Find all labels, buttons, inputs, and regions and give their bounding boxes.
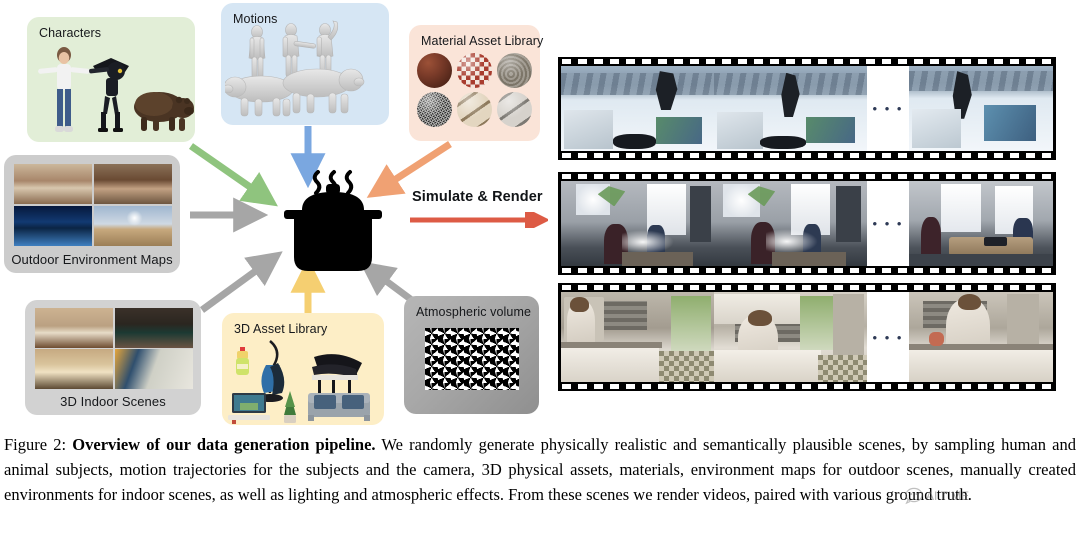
figure-caption: Figure 2: Overview of our data generatio… xyxy=(4,432,1076,507)
spray-bottle-asset xyxy=(236,347,249,375)
card-label-atmospheric-volume: Atmospheric volume xyxy=(416,305,531,319)
arrow-outdoor-to-pot xyxy=(188,205,274,225)
snow-frame-n[interactable] xyxy=(909,66,1053,151)
card-label-outdoor-env-maps: Outdoor Environment Maps xyxy=(4,252,180,267)
result-filmstrip-snow[interactable]: • • • xyxy=(558,57,1056,160)
ellipsis-gap: • • • xyxy=(867,66,909,151)
simulate-render-arrow xyxy=(408,212,548,228)
pano-indoor-hall xyxy=(14,164,92,204)
kitchen-frame-2[interactable] xyxy=(714,292,867,382)
scene-kitchen xyxy=(115,349,193,389)
pano-night-snow xyxy=(14,206,92,246)
source-card-indoor-scenes[interactable]: 3D Indoor Scenes xyxy=(25,300,201,415)
source-card-3d-asset-library[interactable]: 3D Asset Library xyxy=(222,313,384,425)
smoke-room-frame-n[interactable] xyxy=(909,181,1053,266)
result-filmstrip-smoke-room[interactable]: • • • xyxy=(558,172,1056,275)
scene-living-room xyxy=(35,349,113,389)
bear-character-icon xyxy=(129,82,195,134)
indoor-scene-grid xyxy=(35,308,193,388)
material-sphere-striped-sandstone xyxy=(457,92,492,127)
filmstrip-frames: • • • xyxy=(561,181,1053,266)
potted-plant-asset xyxy=(284,391,296,423)
ellipsis-label: • • • xyxy=(873,102,904,115)
material-sphere-gray-marble xyxy=(497,92,532,127)
source-card-characters[interactable]: Characters xyxy=(27,17,195,142)
vacuum-cleaner-asset xyxy=(257,341,284,402)
snow-frame-1[interactable] xyxy=(561,66,714,151)
source-card-atmospheric-volume[interactable]: Atmospheric volume xyxy=(404,296,539,414)
source-card-motions[interactable]: Motions xyxy=(221,3,389,125)
ellipsis-gap: • • • xyxy=(867,292,909,382)
snow-frame-2[interactable] xyxy=(714,66,867,151)
human-character-icon xyxy=(37,44,91,136)
kitchen-frame-n[interactable] xyxy=(909,292,1053,382)
kitchen-frame-1[interactable] xyxy=(561,292,714,382)
smoke-room-frame-1[interactable] xyxy=(561,181,714,266)
ellipsis-gap: • • • xyxy=(867,181,909,266)
result-filmstrip-kitchen[interactable]: • • • xyxy=(558,283,1056,391)
material-sphere-rough-stone xyxy=(497,53,532,88)
sofa-asset xyxy=(308,393,370,421)
scene-bedroom xyxy=(35,308,113,348)
characters-content xyxy=(33,40,191,136)
motion-meshes-icon xyxy=(225,19,385,121)
smoke-room-frame-2[interactable] xyxy=(714,181,867,266)
source-card-materials[interactable]: Material Asset Library xyxy=(409,25,540,141)
scene-billiard-room xyxy=(115,308,193,348)
material-sphere-dark-speckled xyxy=(417,92,452,127)
card-label-3d-asset-library: 3D Asset Library xyxy=(234,322,327,336)
figure-title: Overview of our data generation pipeline… xyxy=(72,435,375,454)
card-label-materials: Material Asset Library xyxy=(421,34,543,48)
material-sphere-dark-wood xyxy=(417,53,452,88)
ellipsis-label: • • • xyxy=(873,331,904,344)
card-label-characters: Characters xyxy=(39,26,101,40)
cooking-pot-icon xyxy=(278,170,388,280)
filmstrip-frames: • • • xyxy=(561,66,1053,151)
filmstrip-frames: • • • xyxy=(561,292,1053,382)
simulate-render-label: Simulate & Render xyxy=(412,189,543,205)
ellipsis-label: • • • xyxy=(873,217,904,230)
material-sphere-red-checker xyxy=(457,53,492,88)
pipeline-figure: Characters xyxy=(0,0,1080,425)
source-card-outdoor-env-maps[interactable]: Outdoor Environment Maps xyxy=(4,155,180,273)
material-sphere-grid xyxy=(417,53,533,128)
pano-desert-sun xyxy=(94,206,172,246)
motions-content xyxy=(225,19,385,121)
asset-items-icon xyxy=(226,337,380,425)
tv-stand-asset xyxy=(228,393,270,424)
grand-piano-asset xyxy=(312,354,362,398)
volumetric-noise-texture-icon xyxy=(425,328,519,390)
figure-number: Figure 2: xyxy=(4,435,66,454)
asset-library-content xyxy=(226,337,380,425)
outdoor-panorama-grid xyxy=(14,164,172,246)
pano-market-arcade xyxy=(94,164,172,204)
card-label-indoor-scenes: 3D Indoor Scenes xyxy=(25,394,201,409)
